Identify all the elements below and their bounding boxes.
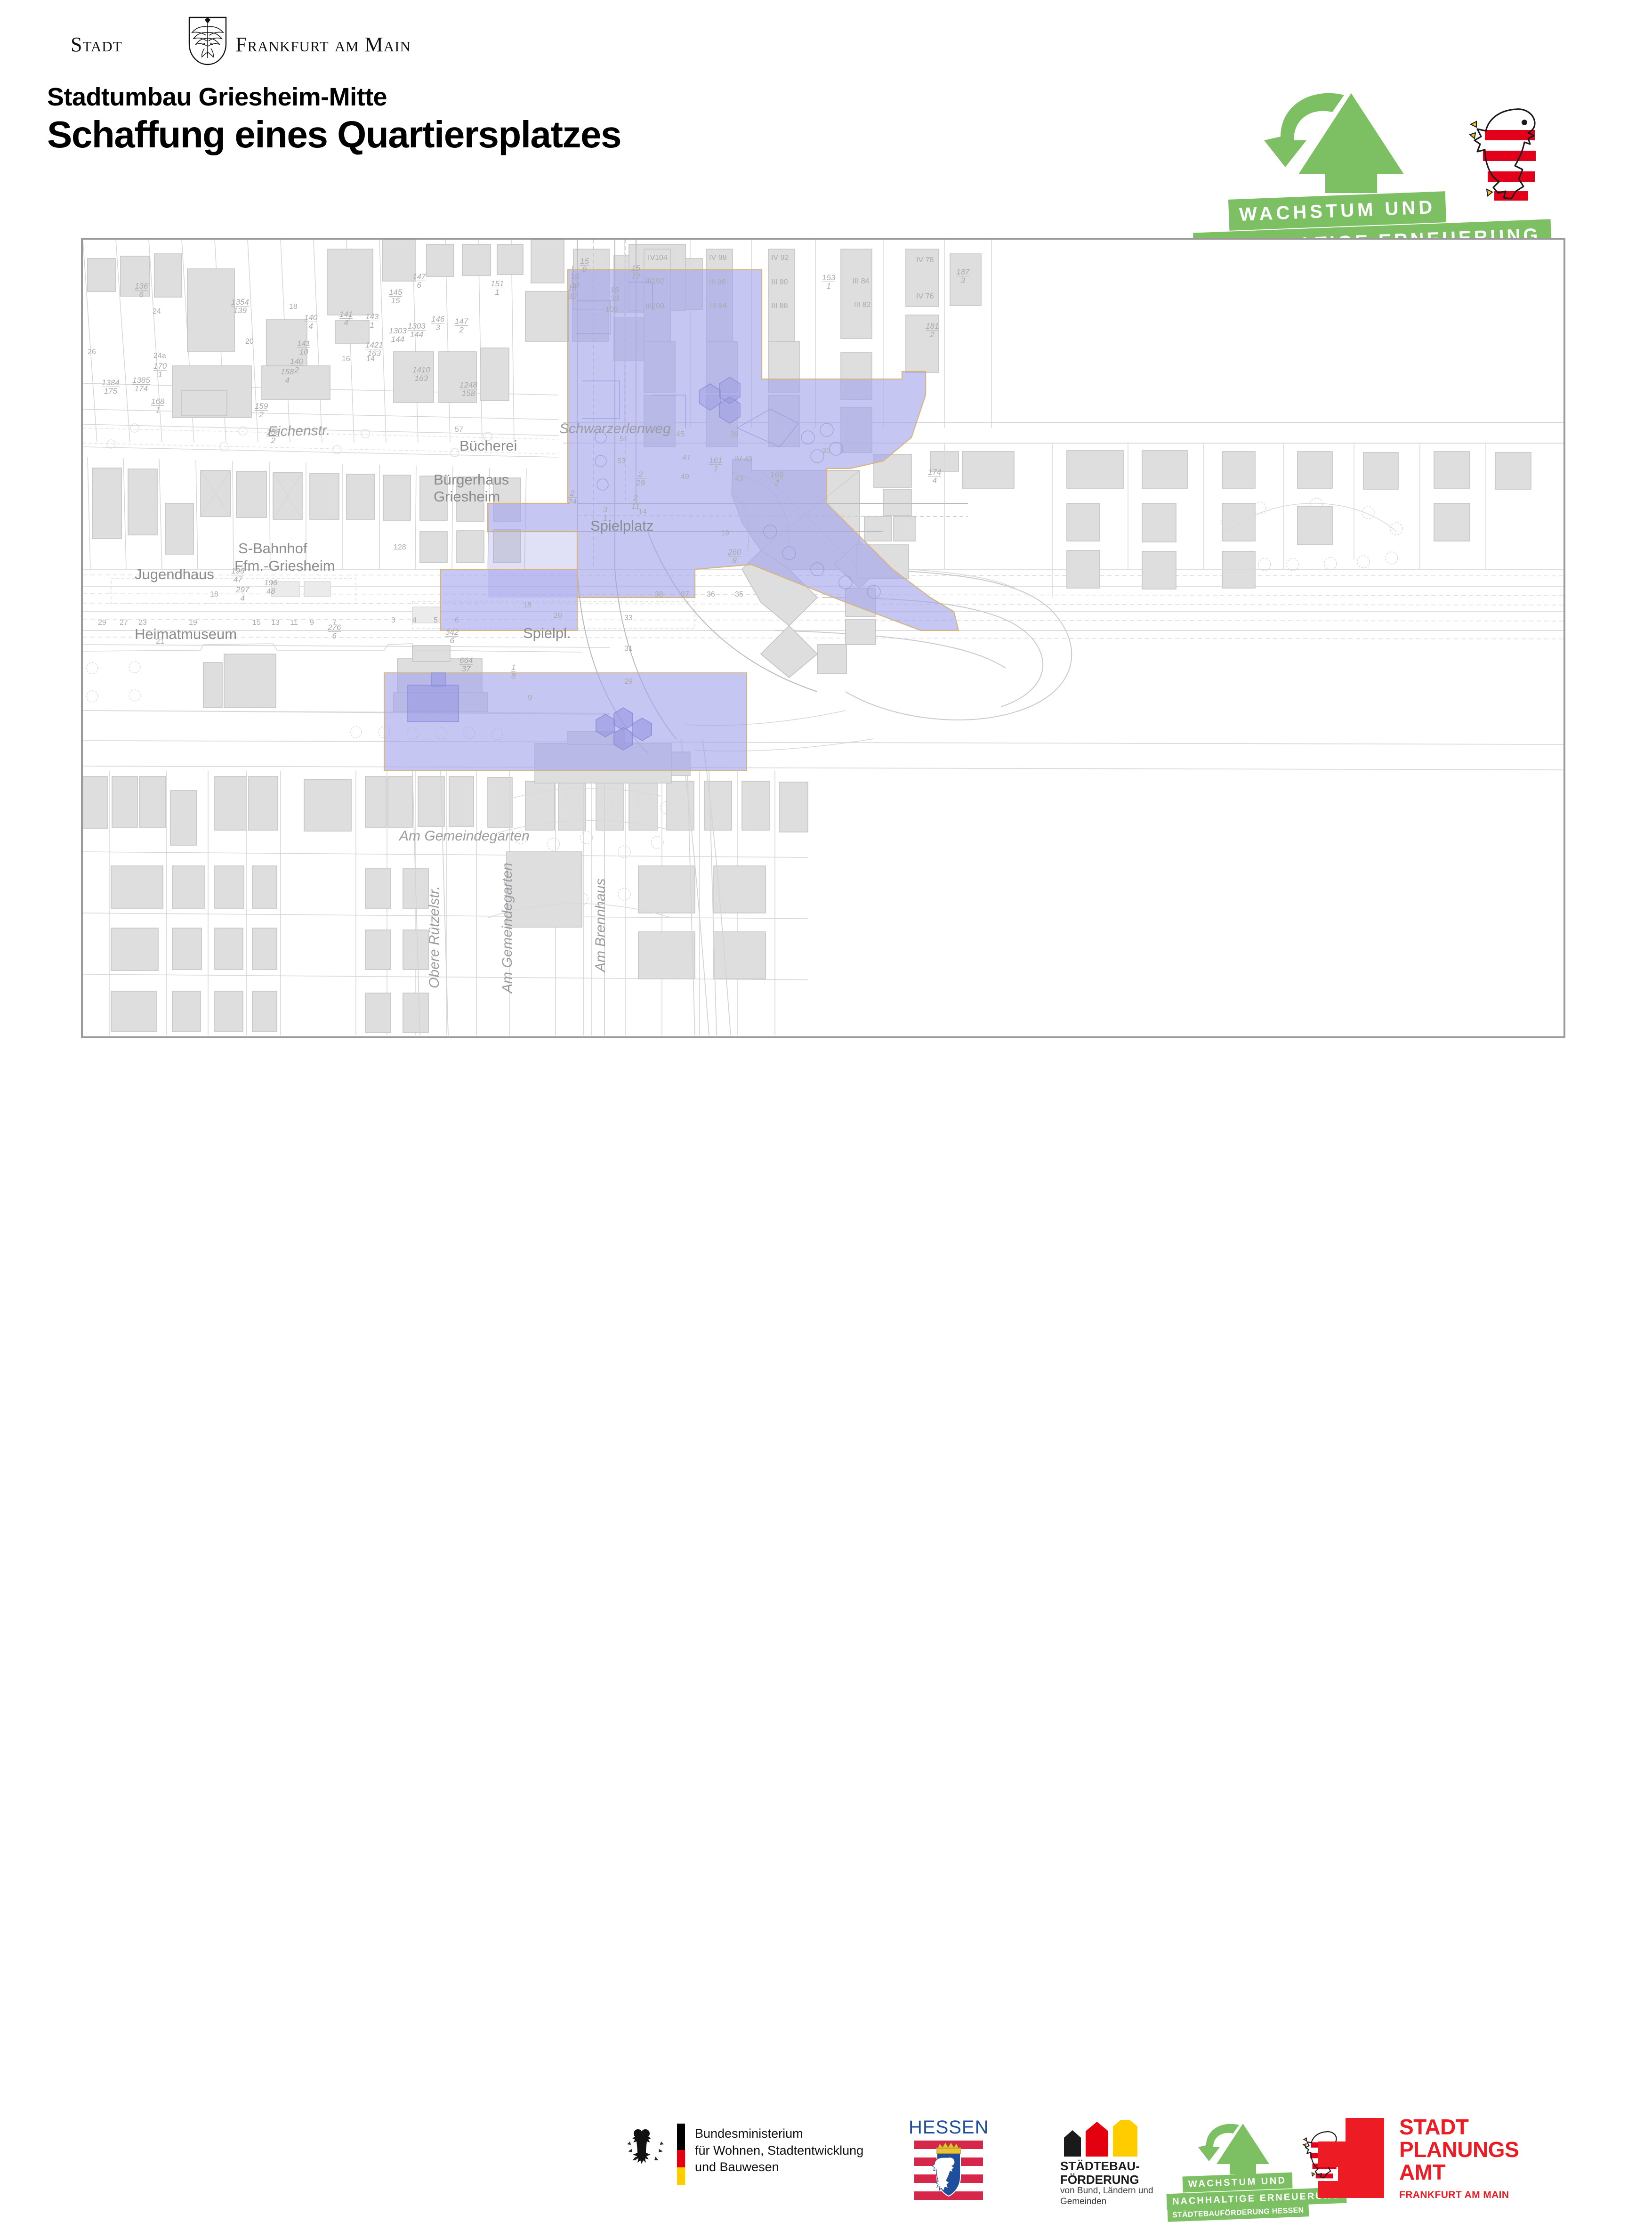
bmwsb-line2: für Wohnen, Stadtentwicklung bbox=[695, 2142, 863, 2159]
stbf-sub-line1: von Bund, Ländern und bbox=[1060, 2186, 1153, 2197]
stadtplanungsamt-logo: STADT PLANUNGS AMT FRANKFURT AM MAIN bbox=[1318, 2118, 1563, 2203]
stbf-sub-line2: Gemeinden bbox=[1060, 2197, 1153, 2207]
hessen-wordmark: HESSEN bbox=[909, 2118, 989, 2137]
stadtplanungsamt-wordmark: STADT PLANUNGS AMT bbox=[1399, 2116, 1519, 2183]
spa-line3: AMT bbox=[1399, 2161, 1519, 2184]
city-logo-word-stadt: Stadt bbox=[71, 32, 122, 57]
stbf-subtitle: von Bund, Ländern und Gemeinden bbox=[1060, 2186, 1153, 2207]
three-houses-black-red-gold-icon bbox=[1060, 2120, 1145, 2157]
footer-logo-strip: Bundesministerium für Wohnen, Stadtentwi… bbox=[0, 1055, 1652, 1168]
bmwsb-line1: Bundesministerium bbox=[695, 2125, 863, 2142]
staedtebaufoerderung-logo: STÄDTEBAU- FÖRDERUNG von Bund, Ländern u… bbox=[1050, 2120, 1186, 2202]
bmwsb-text-block: Bundesministerium für Wohnen, Stadtentwi… bbox=[695, 2125, 863, 2176]
hessen-logo: HESSEN bbox=[909, 2118, 989, 2200]
stbf-title: STÄDTEBAU- FÖRDERUNG bbox=[1060, 2159, 1140, 2187]
city-logo-word-frankfurt: Frankfurt am Main bbox=[235, 32, 411, 57]
hessen-lion-icon bbox=[1464, 99, 1549, 207]
project-subtitle: Stadtumbau Griesheim-Mitte bbox=[47, 82, 387, 112]
stbf-title-line1: STÄDTEBAU- bbox=[1060, 2159, 1140, 2173]
cadastral-map[interactable]: Eichenstr. Schwarzerlenweg Am Gemeindega… bbox=[81, 238, 1565, 1038]
city-of-frankfurt-logo: Stadt Frankfurt am Main bbox=[71, 26, 367, 66]
bundesministerium-logo: Bundesministerium für Wohnen, Stadtentwi… bbox=[626, 2123, 876, 2193]
stbf-title-line2: FÖRDERUNG bbox=[1060, 2173, 1140, 2187]
page-title: Schaffung eines Quartiersplatzes bbox=[47, 113, 621, 156]
spa-line2: PLANUNGS bbox=[1399, 2139, 1519, 2161]
frankfurt-eagle-crest-icon bbox=[187, 16, 228, 66]
german-flag-bar-icon bbox=[677, 2124, 685, 2185]
bmwsb-line3: und Bauwesen bbox=[695, 2159, 863, 2176]
hessen-flag-coat-of-arms-icon bbox=[914, 2140, 983, 2200]
spa-subline: FRANKFURT AM MAIN bbox=[1399, 2190, 1509, 2201]
frankfurt-stadtplanungsamt-mark-icon bbox=[1318, 2118, 1384, 2198]
bundesadler-icon bbox=[626, 2127, 665, 2171]
spa-line1: STADT bbox=[1399, 2116, 1519, 2139]
